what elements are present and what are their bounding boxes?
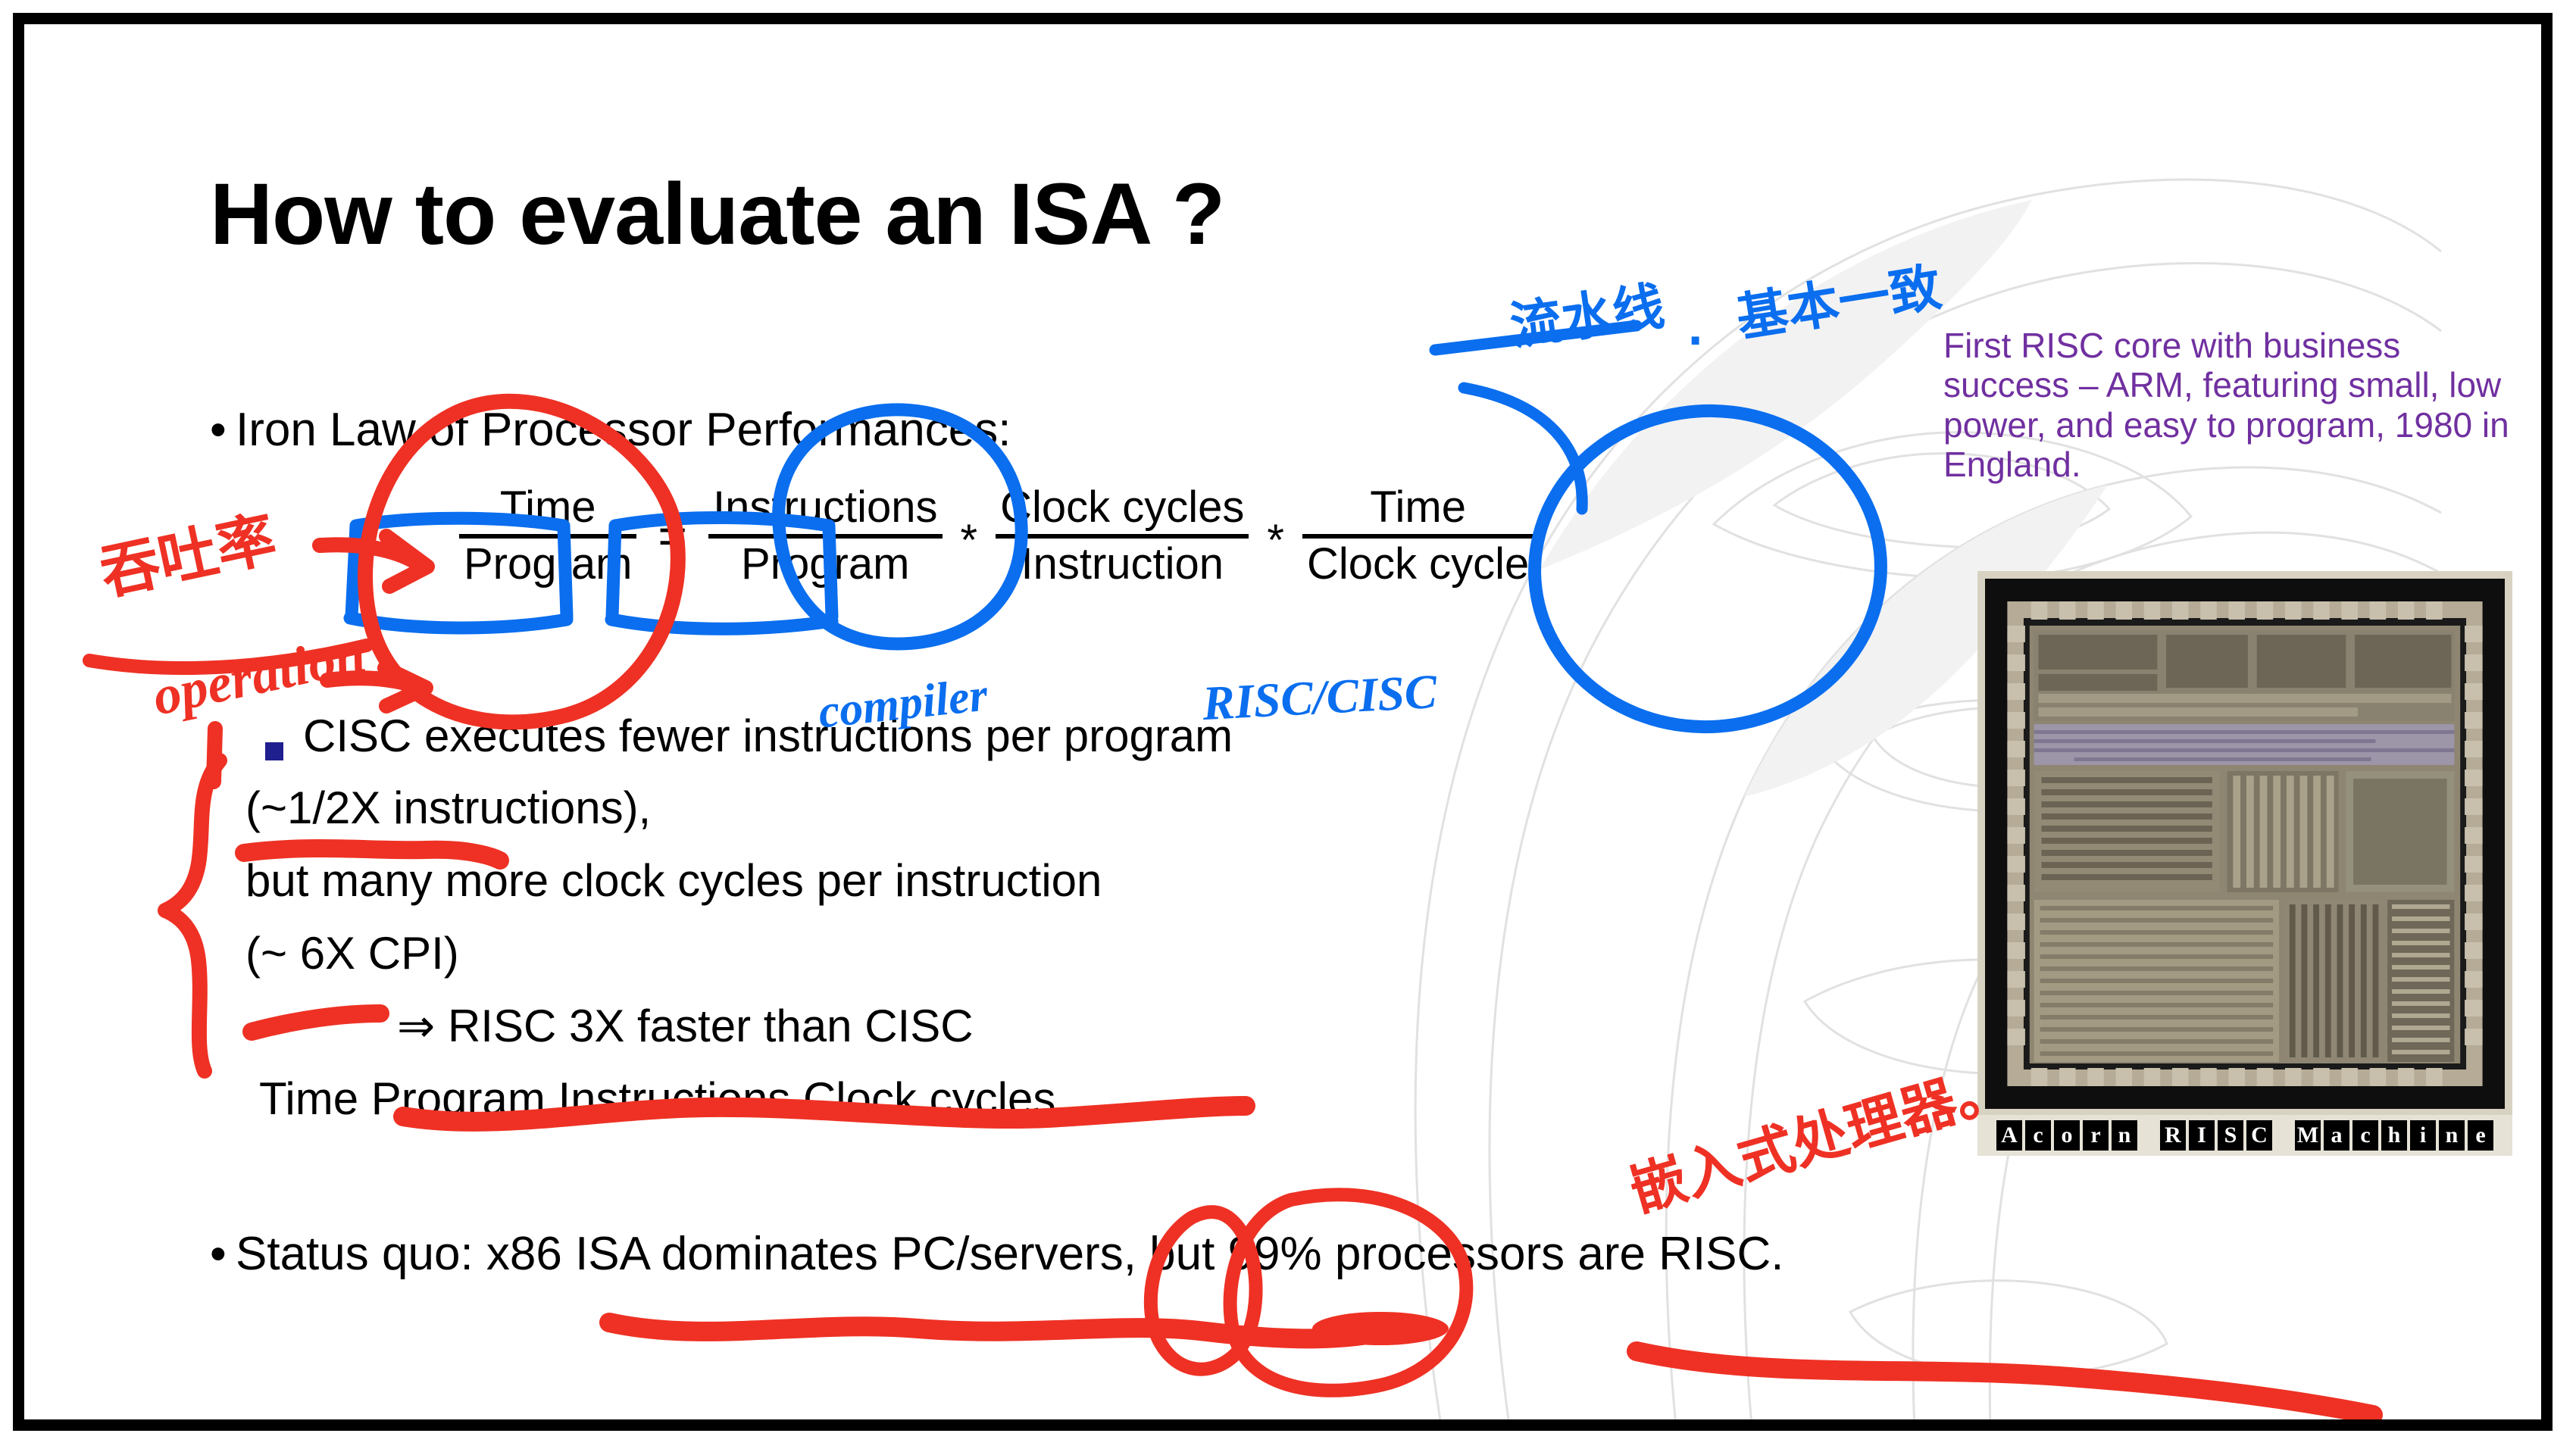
blue-handwriting-pipeline: 流水线	[1505, 264, 1668, 359]
sub-bullet-square-marker	[265, 742, 283, 760]
caption-letter: o	[2054, 1120, 2080, 1151]
sub-bullet-line-1: CISC executes fewer instructions per pro…	[303, 710, 1233, 762]
slide-canvas: How to evaluate an ISA ? •Iron Law of Pr…	[0, 0, 2576, 1452]
arm1-die-photo-figure: A c o r n R I S C M a c h i n e	[1977, 571, 2512, 1162]
numerator: Time	[1365, 485, 1471, 529]
bullet-text: Iron Law of Processor Performances:	[236, 404, 1011, 456]
caption-letter: R	[2160, 1120, 2186, 1151]
sub-bullet-line-2: (~1/2X instructions),	[245, 782, 651, 834]
blue-handwriting-risc-cisc: RISC/CISC	[1201, 664, 1438, 732]
caption-letter: A	[1996, 1120, 2022, 1151]
denominator: Clock cycle	[1302, 542, 1533, 586]
caption-letter: n	[2439, 1120, 2465, 1151]
fraction-bar	[708, 534, 943, 539]
fraction-bar	[996, 534, 1249, 539]
denominator: Program	[736, 542, 914, 586]
caption-letter: I	[2189, 1120, 2215, 1151]
numerator: Time	[496, 485, 601, 529]
formula-term-time-per-clock-cycle: Time Clock cycle	[1292, 485, 1544, 586]
caption-letter: a	[2324, 1120, 2349, 1151]
bullet-marker: •	[210, 403, 236, 457]
sub-bullet-line-3: but many more clock cycles per instructi…	[245, 854, 1102, 907]
caption-letter: M	[2295, 1120, 2321, 1151]
denominator: Instruction	[1016, 542, 1228, 586]
multiply-sign: *	[953, 515, 986, 566]
sub-bullet-line-6: Time Program Instructions Clock cycles	[259, 1073, 1055, 1125]
caption-letter: S	[2218, 1120, 2243, 1151]
chip-die-image	[1977, 571, 2512, 1116]
denominator: Program	[459, 542, 636, 586]
fraction-bar	[459, 534, 636, 539]
caption-letter: c	[2025, 1120, 2051, 1151]
sub-bullet-line-5: ⇒ RISC 3X faster than CISC	[397, 1000, 974, 1053]
equals-sign: =	[647, 507, 698, 564]
bullet-status-quo: •Status quo: x86 ISA dominates PC/server…	[210, 1227, 1784, 1281]
chip-caption: A c o r n R I S C M a c h i n e	[1977, 1115, 2512, 1156]
fraction-bar	[1302, 534, 1533, 539]
multiply-sign: *	[1259, 515, 1292, 566]
formula-term-cycles-per-instruction: Clock cycles Instruction	[985, 485, 1259, 586]
red-handwriting-throughput: 吞吐率	[92, 492, 283, 611]
bullet-text: Status quo: x86 ISA dominates PC/servers…	[236, 1228, 1784, 1280]
caption-letter: c	[2352, 1120, 2378, 1151]
caption-letter: h	[2381, 1120, 2407, 1151]
sub-bullet-line-4: (~ 6X CPI)	[245, 927, 459, 979]
blue-ellipse-time-per-clock-cycle	[1517, 392, 1898, 745]
page-title: How to evaluate an ISA ?	[210, 164, 1224, 264]
blue-handwriting-dot: .	[1687, 306, 1703, 355]
red-handwriting-embedded-processor: 嵌入式处理器。	[1619, 1041, 2018, 1228]
formula-term-time-per-program: Time Program	[449, 485, 647, 586]
formula-term-instructions-per-program: Instructions Program	[698, 485, 953, 586]
bullet-iron-law: •Iron Law of Processor Performances:	[210, 403, 1011, 457]
arm-description-note: First RISC core with business success – …	[1943, 326, 2519, 485]
iron-law-formula: Time Program = Instructions Program * Cl…	[449, 485, 1544, 586]
caption-letter: e	[2468, 1120, 2493, 1151]
numerator: Instructions	[708, 485, 943, 529]
caption-letter: n	[2112, 1120, 2137, 1151]
caption-letter: i	[2410, 1120, 2436, 1151]
blue-handwriting-basically-same: 基本一致	[1730, 245, 1946, 351]
caption-letter: r	[2083, 1120, 2109, 1151]
caption-letter: C	[2246, 1120, 2272, 1151]
slide-frame: How to evaluate an ISA ? •Iron Law of Pr…	[13, 13, 2553, 1431]
numerator: Clock cycles	[996, 485, 1249, 529]
bullet-marker: •	[210, 1227, 236, 1281]
